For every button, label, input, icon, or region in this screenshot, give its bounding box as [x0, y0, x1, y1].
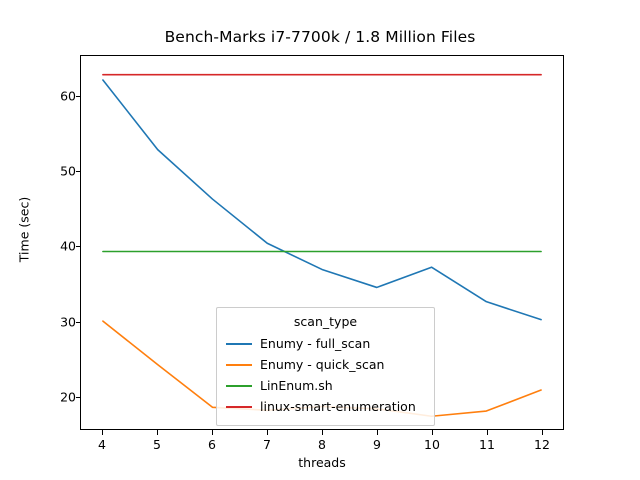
legend-color-swatch: [226, 364, 252, 366]
x-tick-label: 11: [467, 437, 507, 452]
x-tick-label: 5: [137, 437, 177, 452]
x-tick-mark: [322, 430, 323, 435]
x-tick-mark: [267, 430, 268, 435]
legend-color-swatch: [226, 385, 252, 387]
x-tick-mark: [102, 430, 103, 435]
y-axis-ticks: 2030405060: [36, 55, 76, 430]
legend-item[interactable]: LinEnum.sh: [226, 375, 425, 396]
x-tick-label: 8: [302, 437, 342, 452]
y-tick-label: 60: [42, 88, 76, 103]
x-tick-mark: [377, 430, 378, 435]
chart-figure: Bench-Marks i7-7700k / 1.8 Million Files…: [0, 0, 640, 480]
x-tick-label: 9: [357, 437, 397, 452]
y-tick-label: 30: [42, 314, 76, 329]
x-tick-label: 4: [82, 437, 122, 452]
y-tick-label: 40: [42, 239, 76, 254]
x-tick-label: 7: [247, 437, 287, 452]
legend-item[interactable]: linux-smart-enumeration: [226, 396, 425, 417]
x-tick-label: 6: [192, 437, 232, 452]
legend-color-swatch: [226, 343, 252, 345]
legend-item[interactable]: Enumy - full_scan: [226, 333, 425, 354]
x-tick-mark: [487, 430, 488, 435]
y-tick-label: 50: [42, 163, 76, 178]
legend-label: Enumy - quick_scan: [260, 357, 384, 372]
chart-title: Bench-Marks i7-7700k / 1.8 Million Files: [0, 28, 640, 46]
x-axis-ticks: 456789101112: [80, 430, 564, 456]
legend-title: scan_type: [226, 314, 425, 329]
legend-label: LinEnum.sh: [260, 378, 333, 393]
x-tick-mark: [157, 430, 158, 435]
legend-item[interactable]: Enumy - quick_scan: [226, 354, 425, 375]
x-tick-mark: [432, 430, 433, 435]
x-axis-label: threads: [80, 455, 564, 470]
series-line: [103, 80, 541, 320]
legend-entries: Enumy - full_scanEnumy - quick_scanLinEn…: [226, 333, 425, 417]
legend-label: Enumy - full_scan: [260, 336, 370, 351]
x-tick-label: 10: [412, 437, 452, 452]
x-tick-mark: [212, 430, 213, 435]
legend-label: linux-smart-enumeration: [260, 399, 416, 414]
legend: scan_type Enumy - full_scanEnumy - quick…: [216, 307, 435, 426]
legend-color-swatch: [226, 406, 252, 408]
x-tick-mark: [542, 430, 543, 435]
y-tick-label: 20: [42, 389, 76, 404]
x-tick-label: 12: [522, 437, 562, 452]
y-axis-label: Time (sec): [17, 140, 32, 320]
